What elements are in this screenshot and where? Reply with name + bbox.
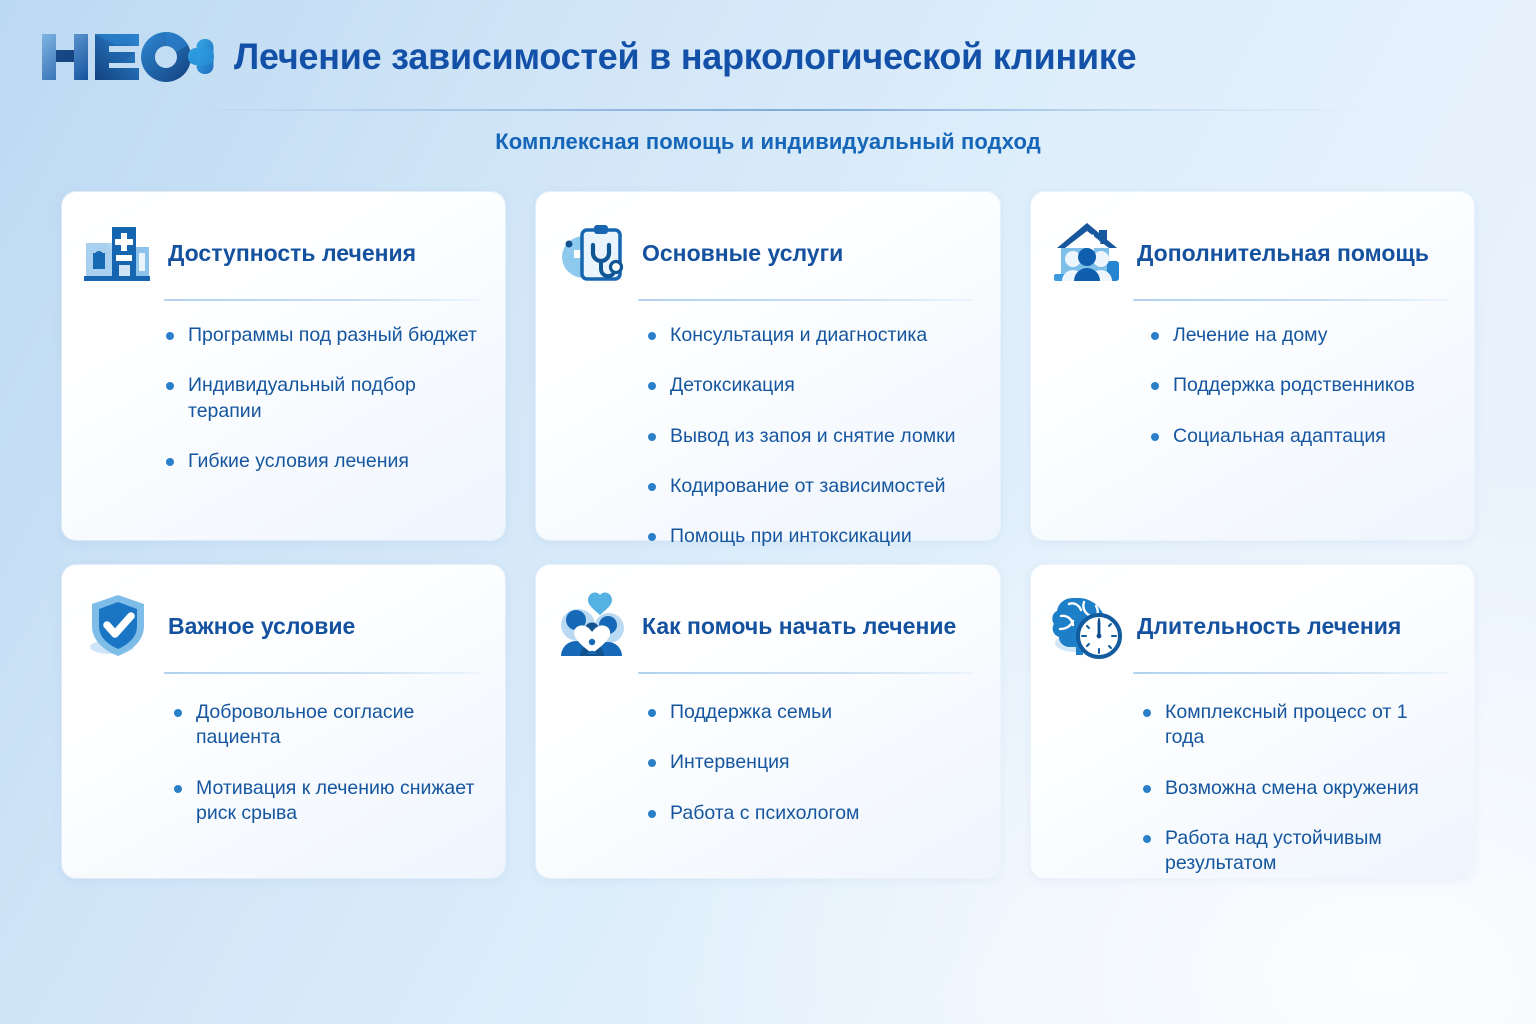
brain-clock-icon	[1051, 590, 1123, 662]
hospital-building-icon	[82, 217, 154, 289]
card-header: Доступность лечения	[82, 216, 479, 290]
house-family-icon	[1051, 217, 1123, 289]
card-divider	[164, 672, 479, 674]
list-item: Детоксикация	[648, 373, 974, 398]
card-additional-help[interactable]: Дополнительная помощь Лечение на дому По…	[1031, 192, 1474, 540]
list-item: Индивидуальный подбор терапии	[166, 373, 479, 424]
list-item: Поддержка семьи	[648, 700, 974, 725]
neo-plus-logo-icon	[38, 26, 216, 88]
card-header: Основные услуги	[556, 216, 974, 290]
family-heart-icon	[556, 590, 628, 662]
card-bullet-list: Программы под разный бюджет Индивидуальн…	[82, 323, 479, 474]
card-header: Дополнительная помощь	[1051, 216, 1448, 290]
card-title: Важное условие	[168, 613, 355, 639]
list-item: Социальная адаптация	[1151, 424, 1448, 449]
card-divider	[638, 672, 974, 674]
card-bullet-list: Комплексный процесс от 1 года Возможна с…	[1051, 700, 1448, 877]
card-divider	[1133, 299, 1448, 301]
card-header: Как помочь начать лечение	[556, 589, 974, 663]
card-how-to-start[interactable]: Как помочь начать лечение Поддержка семь…	[536, 565, 1000, 878]
list-item: Помощь при интоксикации	[648, 524, 974, 549]
card-title: Доступность лечения	[168, 240, 416, 266]
shield-check-icon	[82, 590, 154, 662]
card-accessibility[interactable]: Доступность лечения Программы под разный…	[62, 192, 505, 540]
card-title: Дополнительная помощь	[1137, 240, 1429, 266]
header-brand-row: Лечение зависимостей в наркологической к…	[38, 26, 1164, 88]
card-title: Основные услуги	[642, 240, 843, 266]
list-item: Программы под разный бюджет	[166, 323, 479, 348]
card-bullet-list: Поддержка семьи Интервенция Работа с пси…	[556, 700, 974, 826]
card-header: Важное условие	[82, 589, 479, 663]
page-header: Лечение зависимостей в наркологической к…	[0, 0, 1536, 170]
list-item: Консультация и диагностика	[648, 323, 974, 348]
card-title: Как помочь начать лечение	[642, 613, 956, 639]
infographic-page: Лечение зависимостей в наркологической к…	[0, 0, 1536, 1024]
list-item: Лечение на дому	[1151, 323, 1448, 348]
list-item: Вывод из запоя и снятие ломки	[648, 424, 974, 449]
list-item: Работа с психологом	[648, 801, 974, 826]
card-bullet-list: Добровольное согласие пациента Мотивация…	[82, 700, 479, 826]
list-item: Мотивация к лечению снижает риск срыва	[174, 776, 479, 827]
card-important-condition[interactable]: Важное условие Добровольное согласие пац…	[62, 565, 505, 878]
list-item: Поддержка родственников	[1151, 373, 1448, 398]
card-main-services[interactable]: Основные услуги Консультация и диагности…	[536, 192, 1000, 540]
card-bullet-list: Консультация и диагностика Детоксикация …	[556, 323, 974, 550]
clipboard-stethoscope-icon	[556, 217, 628, 289]
header-divider	[185, 109, 1370, 111]
list-item: Комплексный процесс от 1 года	[1143, 700, 1448, 751]
card-title: Длительность лечения	[1137, 613, 1401, 639]
card-divider	[1133, 672, 1448, 674]
list-item: Кодирование от зависимостей	[648, 474, 974, 499]
page-title: Лечение зависимостей в наркологической к…	[234, 36, 1136, 78]
list-item: Возможна смена окружения	[1143, 776, 1448, 801]
list-item: Гибкие условия лечения	[166, 449, 479, 474]
card-duration[interactable]: Длительность лечения Комплексный процесс…	[1031, 565, 1474, 878]
list-item: Добровольное согласие пациента	[174, 700, 479, 751]
card-header: Длительность лечения	[1051, 589, 1448, 663]
card-divider	[164, 299, 479, 301]
card-bullet-list: Лечение на дому Поддержка родственников …	[1051, 323, 1448, 449]
list-item: Интервенция	[648, 750, 974, 775]
card-divider	[638, 299, 974, 301]
cards-grid: Доступность лечения Программы под разный…	[62, 192, 1474, 878]
list-item: Работа над устойчивым результатом	[1143, 826, 1448, 877]
page-subtitle: Комплексная помощь и индивидуальный подх…	[0, 129, 1536, 155]
